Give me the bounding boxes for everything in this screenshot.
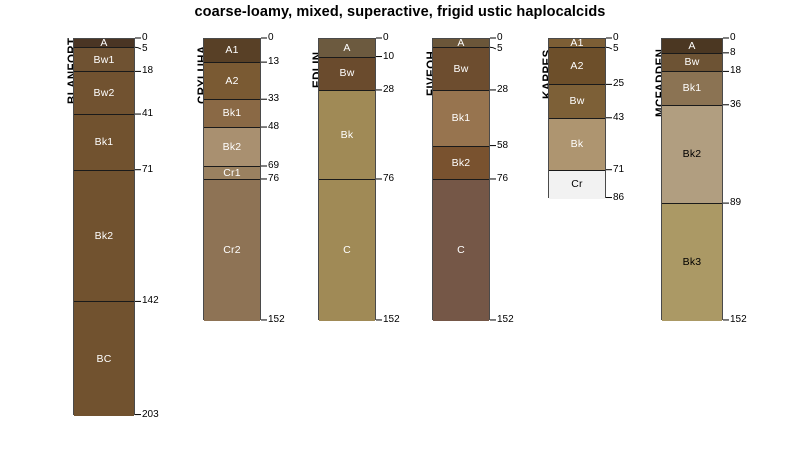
horizon-label: Bk [571,139,584,150]
depth-tick-label: 76 [383,174,394,184]
depth-tick-label: 33 [268,94,279,104]
horizon-label: Bk [341,130,354,141]
depth-tick-label: 69 [268,161,279,171]
profile-column: ABw1Bw2Bk1Bk2BC [73,38,135,415]
depth-tick-label: 86 [613,193,624,203]
horizon-label: A [457,39,464,48]
depth-tick-label: 36 [730,100,741,110]
depth-tick-label: 43 [613,113,624,123]
depth-tick-label: 0 [268,33,274,43]
horizon-label: Bk1 [683,83,702,94]
profile-column: ABwBk1Bk2Bk3 [661,38,723,320]
horizon-label: Cr1 [223,168,241,179]
horizon-label: Bk1 [452,113,471,124]
depth-tick-label: 203 [142,410,159,420]
depth-tick-label: 18 [142,66,153,76]
horizon-label: Bw [340,68,355,79]
depth-tick-label: 0 [730,33,736,43]
depth-tick-label: 5 [613,44,619,54]
horizon-label: A1 [570,39,583,48]
horizon-label: A [688,41,695,52]
horizon-label: Bk2 [683,149,702,160]
horizon-label: Bw [454,64,469,75]
depth-tick-label: 10 [383,52,394,62]
horizon-label: Bw1 [93,55,114,66]
horizon-label: Cr [571,179,582,190]
horizon-label: C [343,245,351,256]
horizon-label: Bk3 [683,257,702,268]
depth-tick-label: 8 [730,48,736,58]
horizon-block: Bk1 [662,72,722,105]
horizon-block: Bk3 [662,204,722,321]
page-title: coarse-loamy, mixed, superactive, frigid… [0,4,800,20]
depth-tick-label: 76 [497,174,508,184]
horizon-block: A [319,39,375,58]
horizon-label: Bk2 [223,142,242,153]
horizon-label: C [457,245,465,256]
horizon-label: A [100,39,107,48]
horizon-block: Bw [662,54,722,73]
horizon-block: A [662,39,722,54]
horizon-label: Bw2 [93,88,114,99]
depth-tick-label: 0 [613,33,619,43]
depth-tick-label: 18 [730,66,741,76]
depth-tick-label: 0 [497,33,503,43]
depth-tick-label: 0 [383,33,389,43]
horizon-block: Bk [549,119,605,171]
depth-tick-label: 48 [268,122,279,132]
horizon-block: BC [74,302,134,415]
horizon-block: A1 [204,39,260,63]
horizon-label: Bk2 [95,231,114,242]
horizon-block: Cr1 [204,167,260,180]
horizon-block: Bw [319,58,375,91]
horizon-block: Bk2 [204,128,260,167]
horizon-block: Bk [319,91,375,180]
depth-tick-label: 71 [142,165,153,175]
horizon-block: C [433,180,489,321]
depth-tick-label: 71 [613,165,624,175]
profile-column: ABwBk1Bk2C [432,38,490,320]
horizon-label: A2 [225,76,238,87]
horizon-block: A2 [204,63,260,100]
horizon-label: Bw [570,96,585,107]
depth-tick-label: 28 [497,85,508,95]
profile-column: A1A2Bk1Bk2Cr1Cr2 [203,38,261,320]
horizon-block: A [433,39,489,48]
horizon-label: Bk2 [452,158,471,169]
depth-tick-label: 152 [497,315,514,325]
horizon-block: A1 [549,39,605,48]
horizon-block: Bk2 [433,147,489,180]
horizon-label: A1 [225,45,238,56]
horizon-block: Bw [433,48,489,91]
depth-tick-label: 76 [268,174,279,184]
horizon-block: Bk2 [662,106,722,204]
depth-tick-label: 28 [383,85,394,95]
horizon-block: Cr [549,171,605,199]
depth-tick-label: 152 [383,315,400,325]
depth-tick-label: 152 [268,315,285,325]
horizon-label: Bk1 [95,137,114,148]
depth-tick-label: 5 [497,44,503,54]
depth-tick-label: 13 [268,57,279,67]
horizon-label: Cr2 [223,245,241,256]
horizon-block: A [74,39,134,48]
depth-tick-label: 5 [142,44,148,54]
horizon-block: A2 [549,48,605,85]
horizon-label: Bk1 [223,108,242,119]
profile-column: A1A2BwBkCr [548,38,606,198]
depth-tick-label: 41 [142,109,153,119]
soil-profile-figure: coarse-loamy, mixed, superactive, frigid… [0,0,800,450]
horizon-block: C [319,180,375,321]
depth-tick-label: 58 [497,141,508,151]
horizon-block: Bk2 [74,171,134,303]
horizon-label: A2 [570,61,583,72]
horizon-label: BC [97,354,112,365]
horizon-label: A [343,43,350,54]
horizon-block: Bw [549,85,605,118]
depth-tick-label: 142 [142,296,159,306]
horizon-block: Cr2 [204,180,260,321]
depth-tick-label: 0 [142,33,148,43]
horizon-block: Bk1 [204,100,260,128]
horizon-label: Bw [685,57,700,68]
profile-column: ABwBkC [318,38,376,320]
depth-tick-label: 152 [730,315,747,325]
horizon-block: Bk1 [74,115,134,171]
horizon-block: Bk1 [433,91,489,147]
depth-tick-label: 89 [730,198,741,208]
horizon-block: Bw2 [74,72,134,115]
depth-tick-label: 25 [613,79,624,89]
horizon-block: Bw1 [74,48,134,72]
